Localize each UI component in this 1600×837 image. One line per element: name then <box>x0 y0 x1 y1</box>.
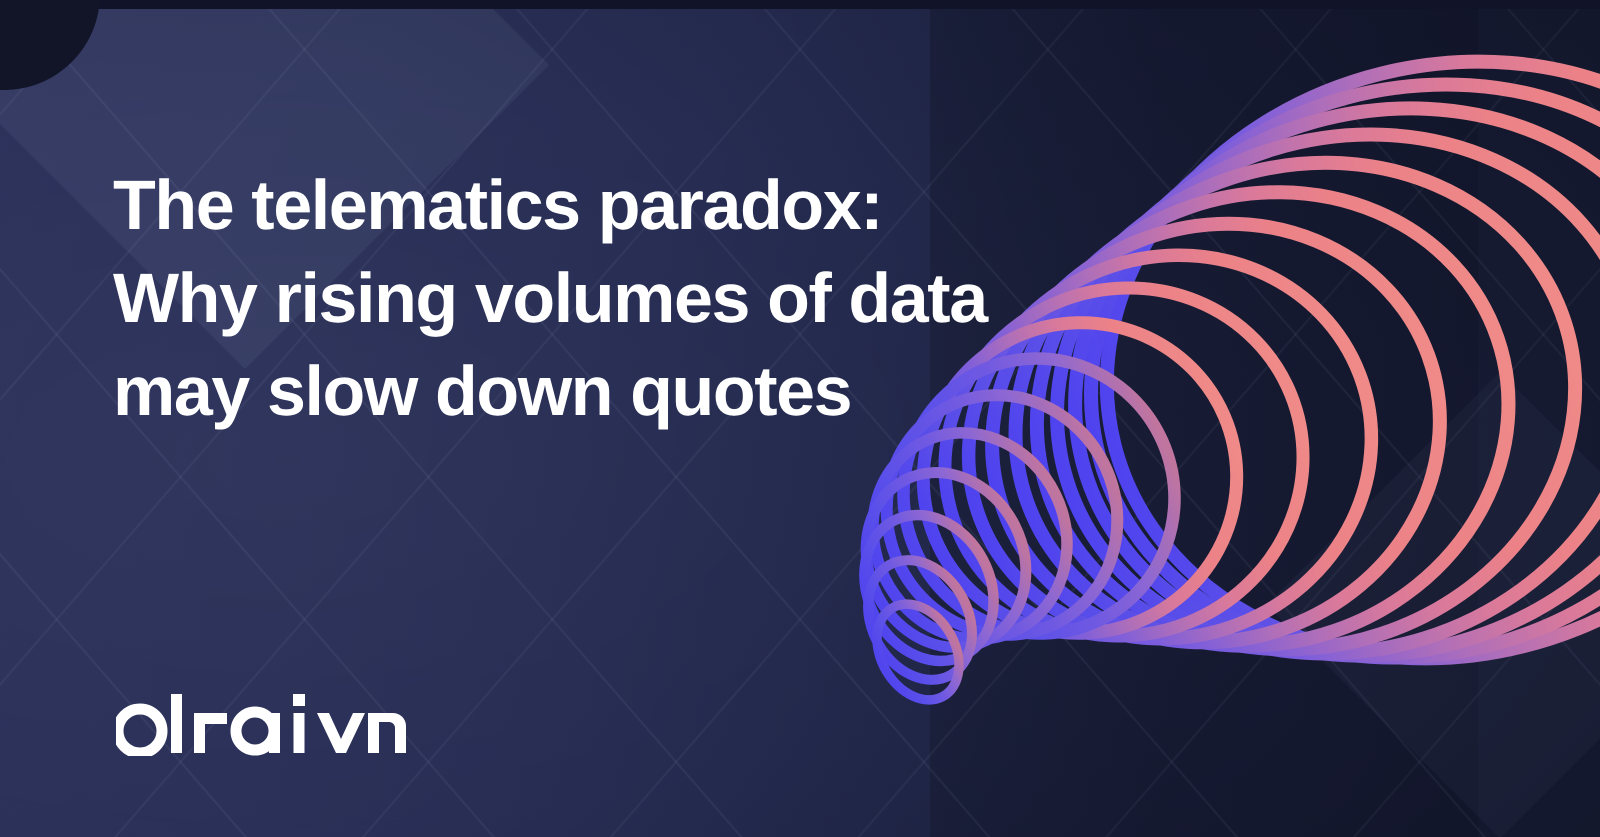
page-title: The telematics paradox: Why rising volum… <box>113 159 1113 438</box>
brand-logo-wordmark <box>116 686 416 756</box>
article-hero-banner: The telematics paradox: Why rising volum… <box>0 0 1600 837</box>
background-top-dark-strip <box>0 0 1600 9</box>
brand-logo[interactable] <box>116 686 416 756</box>
